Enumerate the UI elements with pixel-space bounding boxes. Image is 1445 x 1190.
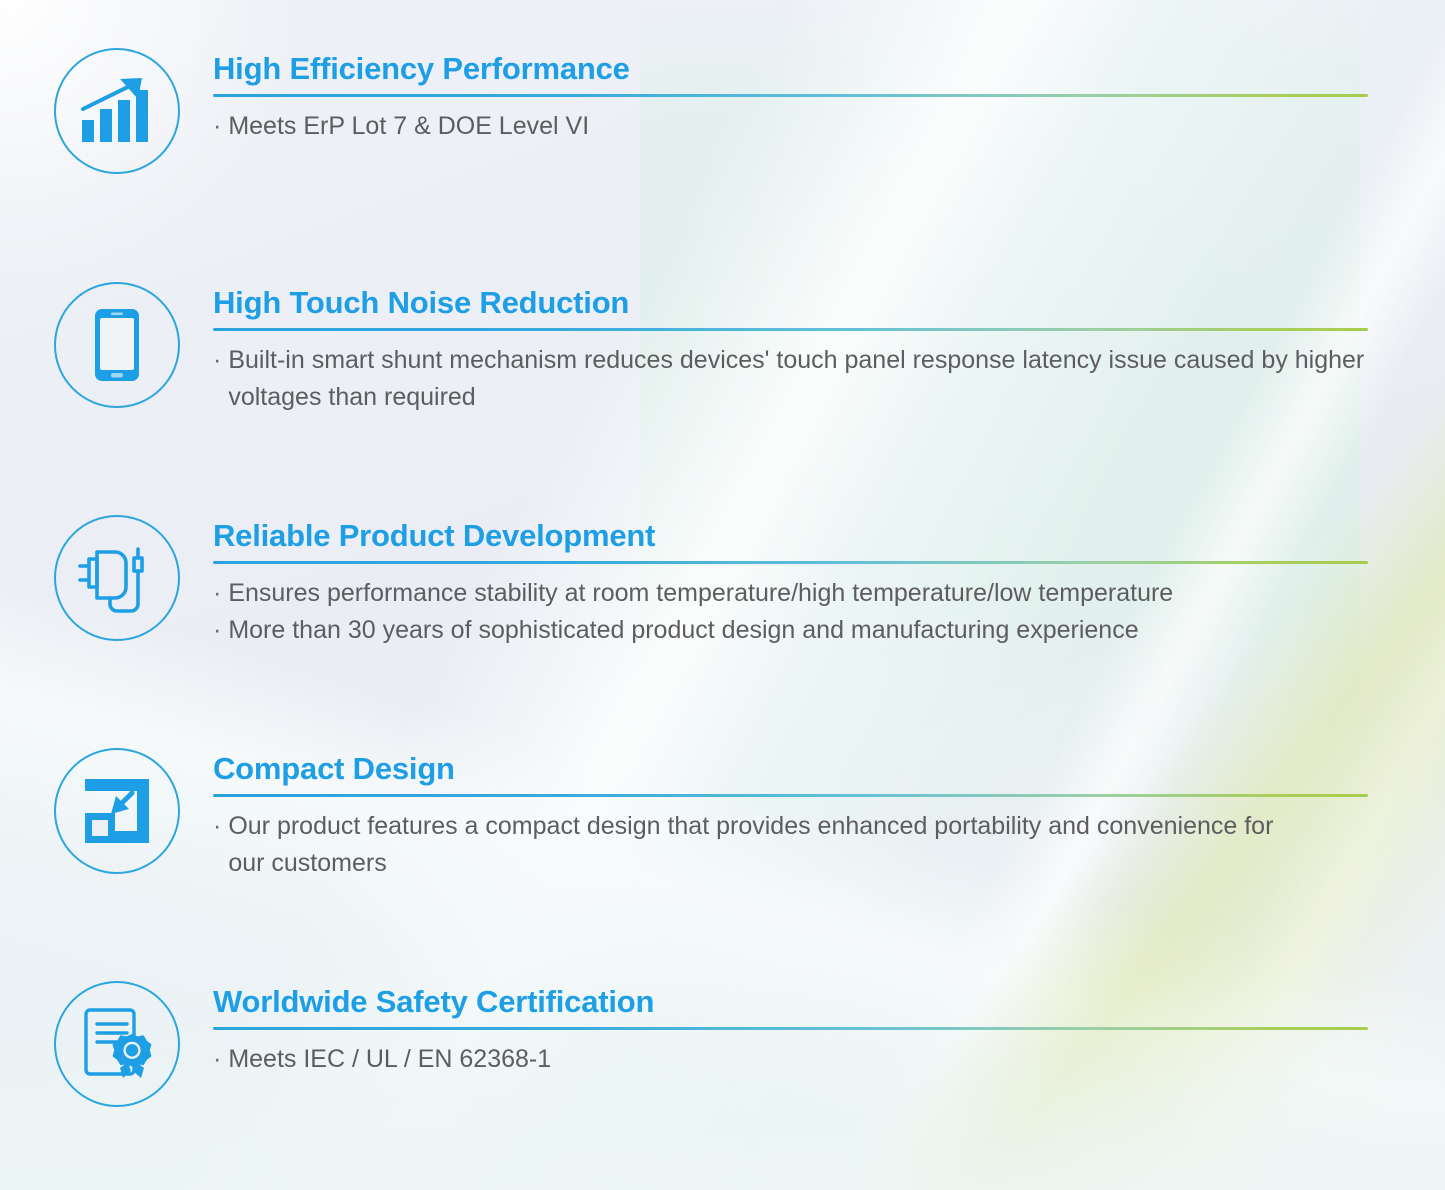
feature-bullets: · Meets ErP Lot 7 & DOE Level VI [213,108,1368,145]
feature-body: Compact Design · Our product features a … [213,748,1368,881]
feature-divider [213,1027,1368,1030]
feature-title: Reliable Product Development [213,519,1368,552]
feature-item-worldwide-safety-certification: Worldwide Safety Certification · Meets I… [54,981,1368,1107]
bullet-item: · Meets ErP Lot 7 & DOE Level VI [213,108,1368,145]
feature-divider [213,94,1368,97]
feature-bullets: · Built-in smart shunt mechanism reduces… [213,342,1381,415]
bullet-item: · Built-in smart shunt mechanism reduces… [213,342,1381,415]
feature-divider [213,561,1368,564]
feature-list: High Efficiency Performance · Meets ErP … [0,0,1445,1190]
bullet-marker: · [213,342,221,415]
feature-body: Reliable Product Development · Ensures p… [213,515,1368,648]
feature-bullets: · Our product features a compact design … [213,808,1368,881]
feature-body: High Touch Noise Reduction · Built-in sm… [213,282,1381,415]
feature-bullets: · Meets IEC / UL / EN 62368-1 [213,1041,1368,1078]
bullet-text: Meets ErP Lot 7 & DOE Level VI [228,108,589,145]
bullet-item: · More than 30 years of sophisticated pr… [213,612,1368,649]
feature-title: Compact Design [213,752,1368,785]
compress-shrink-icon [54,748,180,874]
bullet-marker: · [213,108,221,145]
power-adapter-icon [54,515,180,641]
bullet-text: Our product features a compact design th… [228,808,1313,881]
bullet-item: · Our product features a compact design … [213,808,1313,881]
bullet-text: Meets IEC / UL / EN 62368-1 [228,1041,551,1078]
feature-body: Worldwide Safety Certification · Meets I… [213,981,1368,1078]
feature-divider [213,328,1368,331]
bullet-text: More than 30 years of sophisticated prod… [228,612,1138,649]
bullet-text: Ensures performance stability at room te… [228,575,1173,612]
bullet-text: Built-in smart shunt mechanism reduces d… [228,342,1381,415]
feature-body: High Efficiency Performance · Meets ErP … [213,48,1368,145]
bullet-item: · Meets IEC / UL / EN 62368-1 [213,1041,1368,1078]
feature-item-compact-design: Compact Design · Our product features a … [54,748,1368,881]
bullet-item: · Ensures performance stability at room … [213,575,1368,612]
feature-item-reliable-product-development: Reliable Product Development · Ensures p… [54,515,1368,648]
smartphone-icon [54,282,180,408]
feature-bullets: · Ensures performance stability at room … [213,575,1368,648]
bullet-marker: · [213,612,221,649]
feature-divider [213,794,1368,797]
feature-title: High Efficiency Performance [213,52,1368,85]
bar-chart-growth-icon [54,48,180,174]
feature-title: High Touch Noise Reduction [213,286,1381,319]
feature-item-high-efficiency-performance: High Efficiency Performance · Meets ErP … [54,48,1368,174]
feature-title: Worldwide Safety Certification [213,985,1368,1018]
bullet-marker: · [213,575,221,612]
feature-item-high-touch-noise-reduction: High Touch Noise Reduction · Built-in sm… [54,282,1381,415]
bullet-marker: · [213,808,221,881]
bullet-marker: · [213,1041,221,1078]
certificate-award-icon [54,981,180,1107]
